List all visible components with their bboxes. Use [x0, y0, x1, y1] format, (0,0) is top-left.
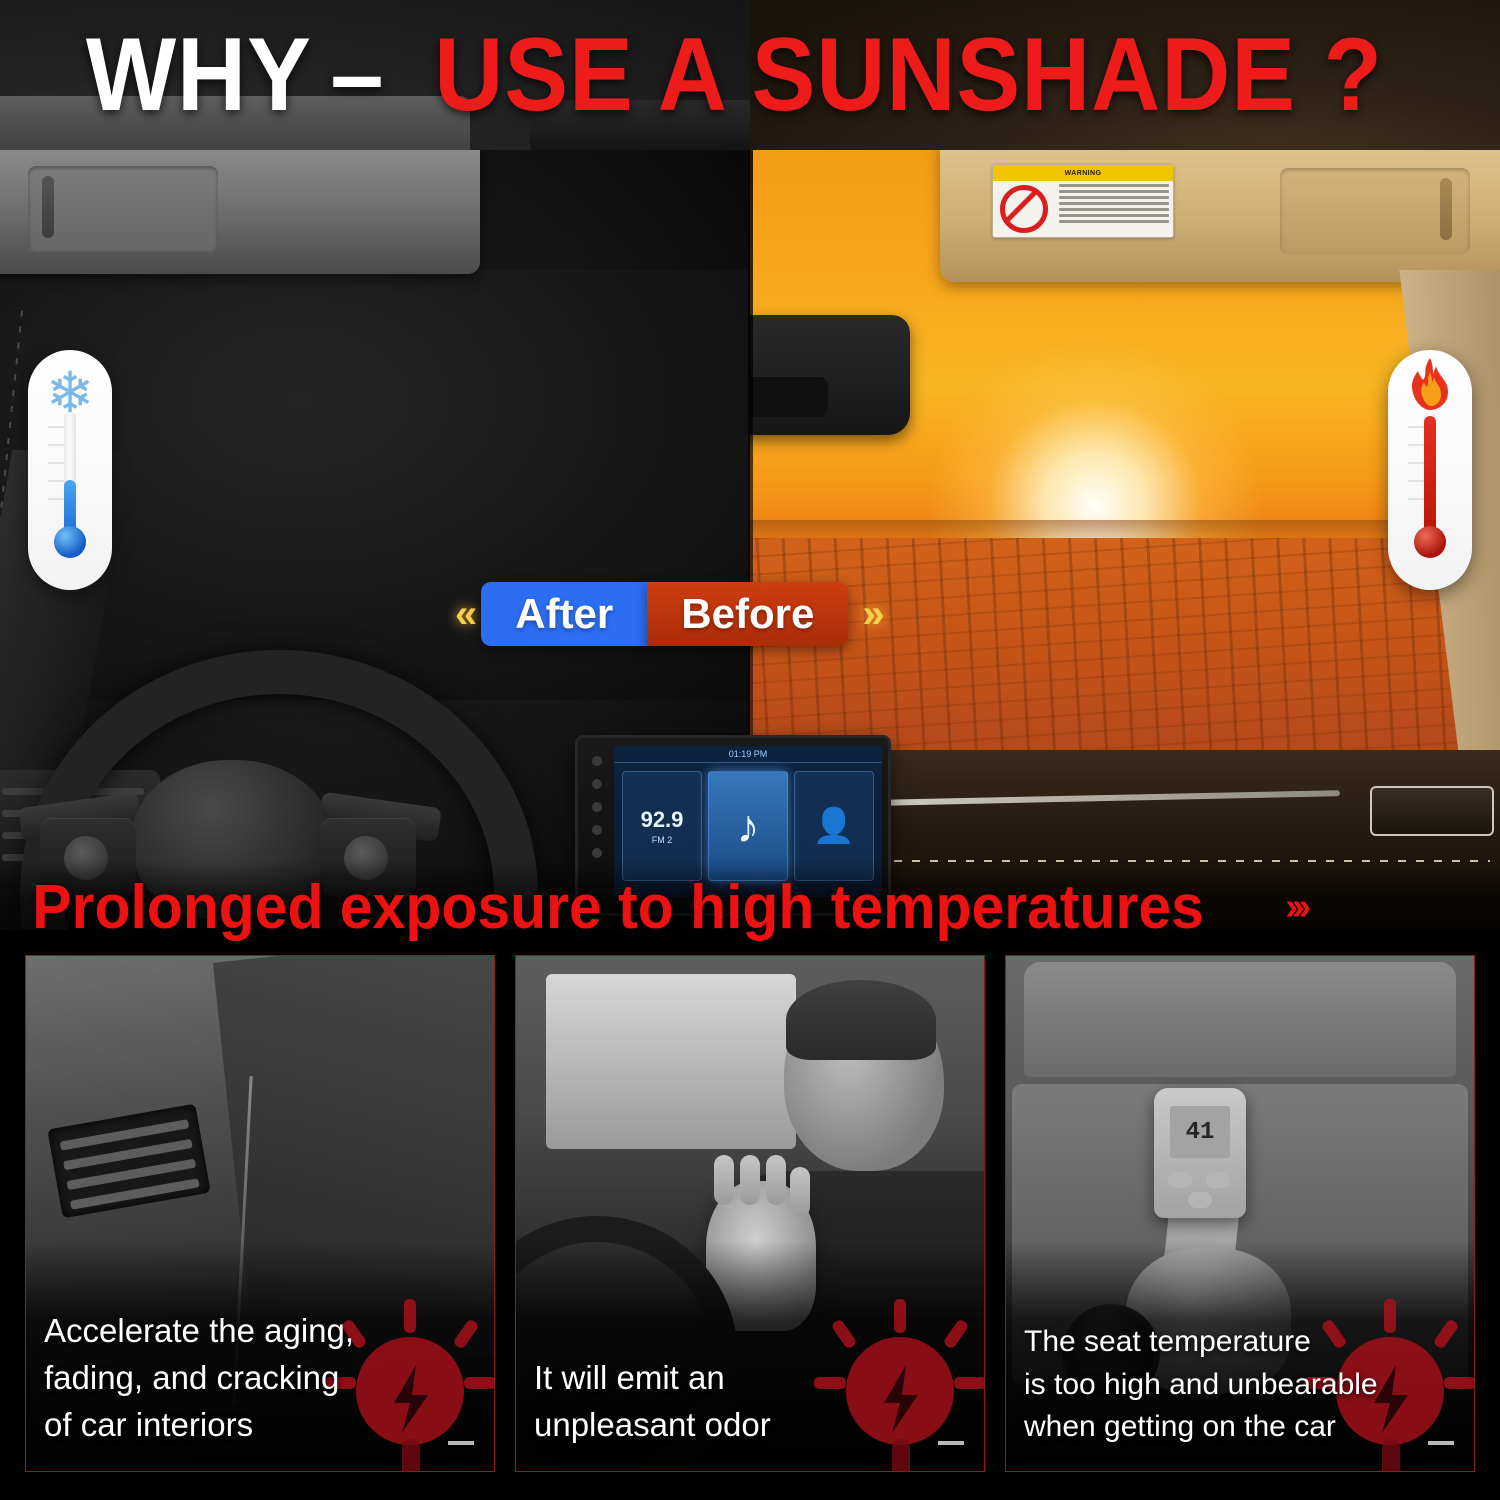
radio-frequency: 92.9 — [641, 807, 684, 833]
subtitle-text: Prolonged exposure to high temperatures — [0, 872, 1204, 943]
before-sun-visor: WARNING — [940, 150, 1500, 282]
card-caption: It will emit an unpleasant odor — [534, 1355, 924, 1449]
caption-underscore — [1428, 1441, 1454, 1445]
caption-line: The seat temperature — [1024, 1321, 1414, 1364]
after-visor-mirror-slot — [28, 166, 218, 252]
caption-underscore — [448, 1441, 474, 1445]
list-item: 41 — [1005, 955, 1475, 1472]
title-word-why: WHY — [86, 23, 312, 127]
flame-icon — [1404, 356, 1456, 418]
title-dash: – — [325, 23, 390, 127]
list-item: It will emit an unpleasant odor — [515, 955, 985, 1472]
thermometer-button[interactable] — [1206, 1172, 1230, 1188]
cold-thermometer-bulb — [54, 526, 86, 558]
thermometer-button[interactable] — [1168, 1172, 1192, 1188]
before-air-vent — [1370, 786, 1494, 836]
hot-thermometer-bulb — [1414, 526, 1446, 558]
cold-thermometer-ticks — [48, 426, 64, 538]
list-item: Accelerate the aging, fading, and cracki… — [25, 955, 495, 1472]
card-caption: Accelerate the aging, fading, and cracki… — [44, 1308, 434, 1449]
warning-label-text-lines — [1055, 181, 1173, 237]
subtitle-banner: Prolonged exposure to high temperatures … — [0, 860, 1500, 955]
hot-thermometer-fill — [1424, 416, 1436, 542]
chevron-left-icon: « — [455, 592, 481, 637]
hot-thermometer-ticks — [1408, 426, 1424, 538]
after-badge[interactable]: After — [481, 582, 647, 646]
infrared-thermometer: 41 — [1154, 1088, 1246, 1218]
caption-line: of car interiors — [44, 1402, 434, 1449]
no-child-seat-icon — [993, 181, 1055, 237]
caption-line: when getting on the car — [1024, 1406, 1414, 1449]
caption-line: fading, and cracking — [44, 1355, 434, 1402]
seat-headrest — [1024, 962, 1456, 1077]
cold-thermometer: ❄ — [28, 350, 112, 590]
caption-line: is too high and unbearable — [1024, 1364, 1414, 1407]
radio-band: FM 2 — [652, 835, 673, 845]
consequences-card-row: Accelerate the aging, fading, and cracki… — [0, 930, 1500, 1500]
head-unit-clock: 01:19 PM — [614, 746, 882, 763]
thermometer-button[interactable] — [1188, 1192, 1212, 1208]
page-title: WHY – USE A SUNSHADE ? — [0, 0, 1500, 150]
before-badge[interactable]: Before — [647, 582, 848, 646]
visor-warning-label: WARNING — [992, 164, 1174, 238]
chevron-right-icon: » — [848, 592, 874, 637]
after-sun-visor — [0, 150, 480, 274]
sunshade-benefits-poster: WHY – USE A SUNSHADE ? — [0, 0, 1500, 1500]
person-phone-icon: 👤 — [813, 809, 855, 843]
card-caption: The seat temperature is too high and unb… — [1024, 1321, 1414, 1449]
caption-line: It will emit an — [534, 1355, 924, 1402]
caption-underscore — [938, 1441, 964, 1445]
warning-label-heading: WARNING — [993, 165, 1173, 181]
dashboard-vent — [47, 1104, 210, 1219]
hot-thermometer — [1388, 350, 1472, 590]
before-after-hero: WARNING — [0, 150, 1500, 930]
music-note-icon: ♪ — [737, 803, 760, 849]
caption-line: Accelerate the aging, — [44, 1308, 434, 1355]
car-window — [546, 974, 796, 1149]
chevron-triple-icon: ››› — [1285, 886, 1305, 929]
man-hair — [786, 980, 936, 1060]
head-unit-side-buttons[interactable] — [588, 756, 606, 858]
before-rearview-mirror — [750, 315, 910, 435]
thermometer-display: 41 — [1170, 1106, 1230, 1158]
caption-line: unpleasant odor — [534, 1402, 924, 1449]
header-banner: WHY – USE A SUNSHADE ? — [0, 0, 1500, 150]
title-phrase-use-a-sunshade: USE A SUNSHADE ? — [434, 23, 1383, 127]
before-after-toggle: « After Before » — [455, 582, 875, 646]
before-visor-mirror-slot — [1280, 168, 1470, 254]
